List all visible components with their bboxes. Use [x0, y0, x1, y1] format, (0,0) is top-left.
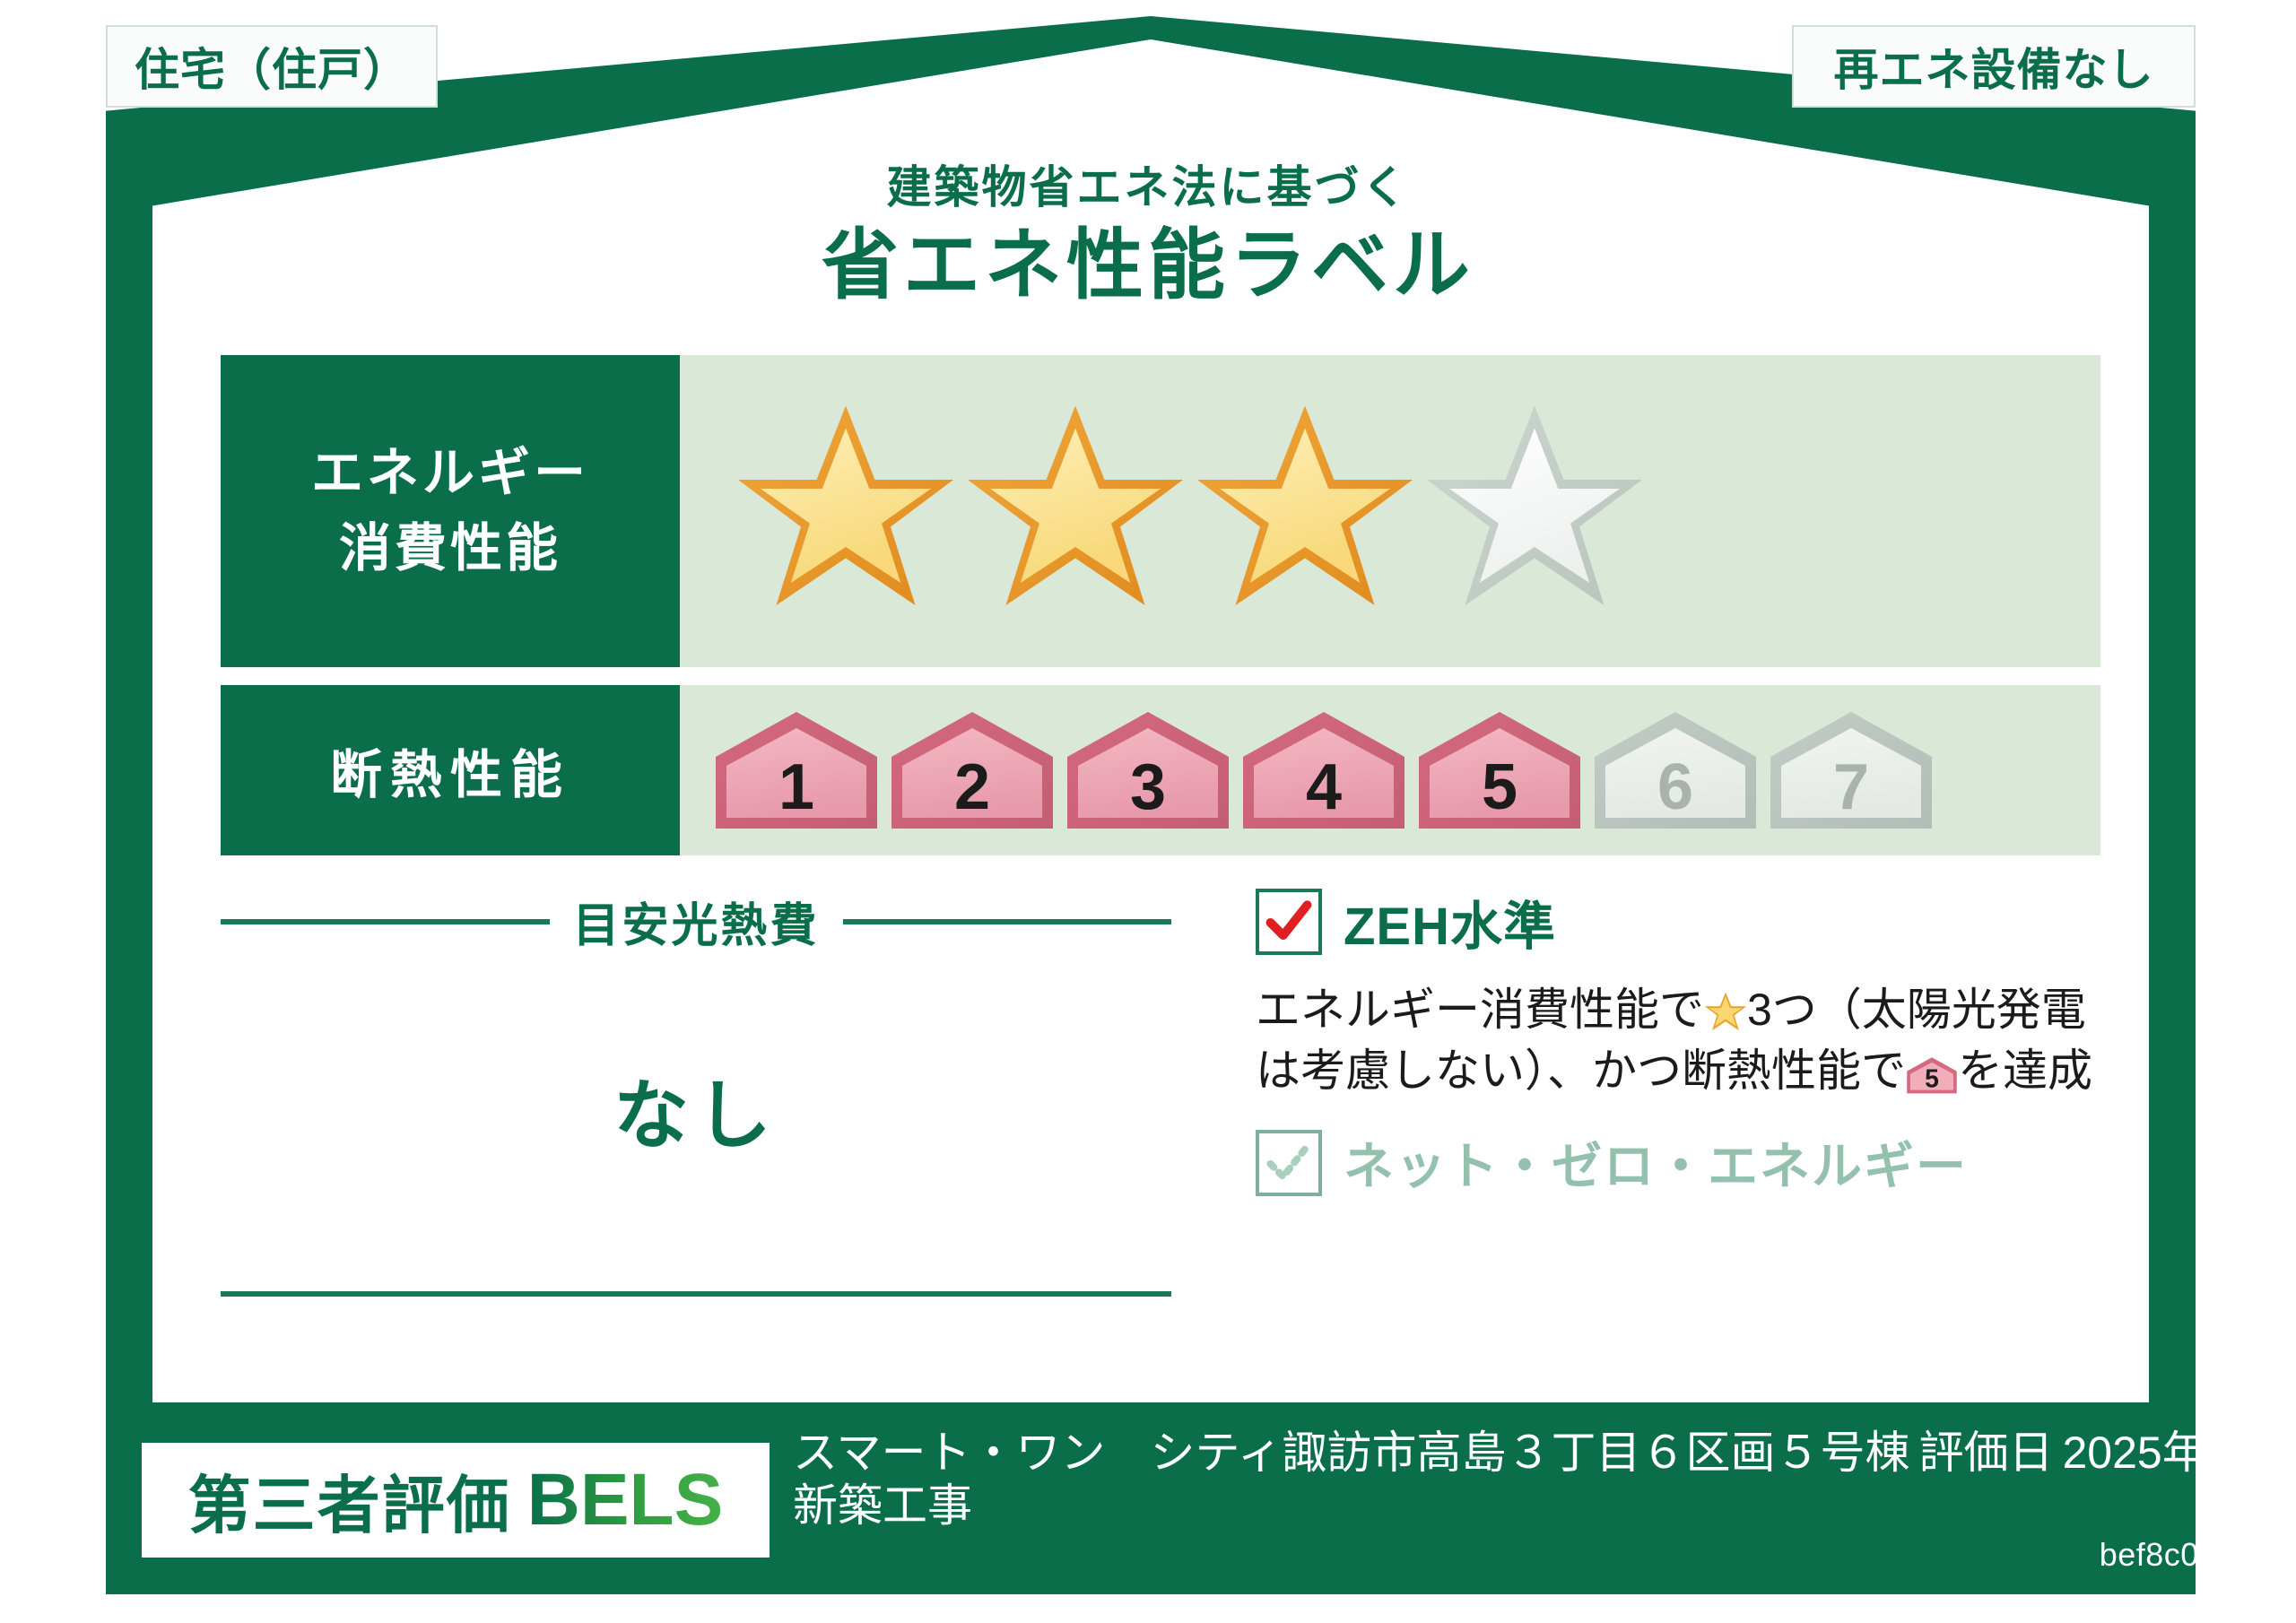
net-zero-energy-line: ネット・ゼロ・エネルギー: [1256, 1126, 2152, 1199]
insulation-performance-row: 断熱性能: [221, 685, 2100, 855]
check-icon-faded: [1259, 1133, 1318, 1193]
label-subtitle: 建築物省エネ法に基づく: [0, 163, 2296, 213]
insulation-level-badge-6: 6: [1591, 708, 1760, 832]
zeh-description: エネルギー消費性能で 3つ（太陽光発電 は考慮しない）、かつ断熱性能で 5 を達…: [1256, 979, 2135, 1101]
insulation-level-badge-5: 5: [1415, 708, 1584, 832]
heading-rule-right: [843, 919, 1172, 924]
zeh-section: ZEH水準 エネルギー消費性能で 3つ（太陽光発電 は考慮しない）、かつ断熱性能…: [1256, 884, 2152, 1199]
project-name: スマート・ワン シティ諏訪市高島３丁目６区画５号棟: [793, 1427, 1910, 1480]
insulation-level-number-6: 6: [1591, 755, 1760, 820]
check-icon: [1259, 892, 1318, 951]
zeh-description-part4: を達成: [1958, 1046, 2092, 1096]
zeh-description-part3: は考慮しない）、かつ断熱性能で: [1256, 1046, 1906, 1096]
record-id: bef8c039-edd8-4f0e: [793, 1536, 2296, 1574]
insulation-level-badge-1: 1: [712, 708, 881, 832]
footer-details: スマート・ワン シティ諏訪市高島３丁目６区画５号棟 評価日 2025年12月26…: [793, 1427, 2296, 1574]
star-rating: [734, 399, 1647, 623]
star-icon-filled-1: [734, 399, 958, 623]
energy-performance-label: エネルギー 消費性能: [221, 355, 680, 667]
energy-performance-row: エネルギー 消費性能: [221, 355, 2100, 667]
bels-logo-text: BELS: [527, 1458, 724, 1542]
zeh-description-part1: エネルギー消費性能で: [1256, 985, 1704, 1035]
energy-performance-value: [680, 355, 2100, 667]
net-zero-energy-checkbox[interactable]: [1256, 1130, 1322, 1196]
energy-cost-heading-text: 目安光熱費: [573, 888, 820, 955]
insulation-level-number-3: 3: [1064, 755, 1232, 820]
insulation-performance-value: 1 2 3: [680, 685, 2100, 855]
evaluation-date-label: 評価日: [1919, 1427, 2054, 1480]
insulation-level-badge-4: 4: [1239, 708, 1408, 832]
energy-performance-label-line1: エネルギー: [311, 436, 589, 511]
net-zero-energy-label: ネット・ゼロ・エネルギー: [1344, 1126, 1968, 1199]
insulation-level-scale: 1 2 3: [712, 708, 1935, 832]
insulation-level-badge-2: 2: [888, 708, 1057, 832]
insulation-level-number-4: 4: [1239, 755, 1408, 820]
heading-rule-left: [221, 919, 550, 924]
building-type-tag: 住宅（住戸）: [106, 25, 438, 108]
label-footer: 第三者評価 BELS スマート・ワン シティ諏訪市高島３丁目６区画５号棟 評価日…: [106, 1406, 2196, 1594]
star-icon-empty-4: [1422, 399, 1647, 623]
star-icon-filled-2: [963, 399, 1187, 623]
evaluation-date: 2025年12月26日: [2063, 1427, 2296, 1480]
zeh-standard-line: ZEH水準: [1256, 884, 2152, 959]
insulation-level-icon-inline: 5: [1906, 1049, 1958, 1089]
bels-energy-label: 住宅（住戸） 再エネ設備なし 建築物省エネ法に基づく 省エネ性能ラベル エネルギ…: [0, 0, 2296, 1623]
insulation-level-number-2: 2: [888, 755, 1057, 820]
insulation-performance-label-text: 断熱性能: [330, 733, 570, 808]
zeh-description-part2: 3つ（太陽光発電: [1747, 985, 2086, 1035]
energy-cost-value: なし: [221, 1055, 1171, 1164]
project-name-line2: 新築工事: [793, 1480, 2296, 1532]
energy-performance-label-line2: 消費性能: [339, 511, 561, 586]
insulation-level-badge-3: 3: [1064, 708, 1232, 832]
insulation-level-number-7: 7: [1767, 755, 1935, 820]
energy-cost-section: 目安光熱費 なし: [221, 888, 1171, 1164]
insulation-level-number-5: 5: [1415, 755, 1584, 820]
third-party-evaluation-label: 第三者評価: [188, 1455, 511, 1546]
building-type-text: 住宅（住戸）: [135, 34, 409, 99]
bels-badge: 第三者評価 BELS: [142, 1443, 770, 1558]
star-icon-filled-3: [1193, 399, 1417, 623]
insulation-level-number-1: 1: [712, 755, 881, 820]
insulation-performance-label: 断熱性能: [221, 685, 680, 855]
label-title: 省エネ性能ラベル: [0, 218, 2296, 315]
label-title-block: 建築物省エネ法に基づく 省エネ性能ラベル: [0, 163, 2296, 315]
zeh-standard-label: ZEH水準: [1344, 884, 1556, 959]
footer-primary-row: スマート・ワン シティ諏訪市高島３丁目６区画５号棟 評価日 2025年12月26…: [793, 1427, 2296, 1480]
energy-cost-heading: 目安光熱費: [221, 888, 1171, 955]
energy-cost-bottom-rule: [221, 1291, 1171, 1297]
renewable-equipment-text: 再エネ設備なし: [1834, 34, 2154, 99]
zeh-standard-checkbox[interactable]: [1256, 889, 1322, 955]
renewable-equipment-tag: 再エネ設備なし: [1792, 25, 2196, 108]
star-icon-inline: [1704, 986, 1747, 1029]
insulation-level-badge-7: 7: [1767, 708, 1935, 832]
svg-text:5: 5: [1925, 1065, 1939, 1094]
